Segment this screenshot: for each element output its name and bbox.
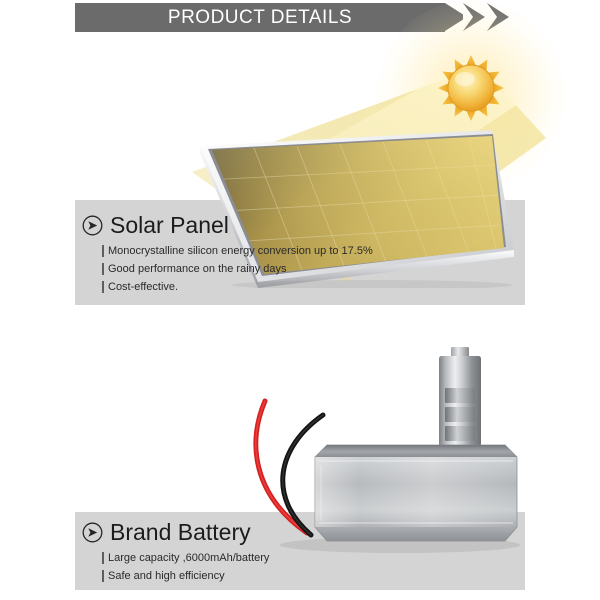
sun-icon: [437, 54, 505, 122]
list-item: Good performance on the rainy days: [102, 260, 373, 278]
list-item: Safe and high efficiency: [102, 567, 269, 585]
list-item: Cost-effective.: [102, 278, 373, 296]
brand-battery-feature-list: Large capacity ,6000mAh/battery Safe and…: [82, 549, 269, 585]
solar-panel-info-block: Solar Panel Monocrystalline silicon ener…: [82, 212, 373, 296]
brand-battery-heading: Brand Battery: [110, 519, 251, 546]
page-title: PRODUCT DETAILS: [75, 3, 445, 32]
circle-play-arrow-icon: [82, 215, 103, 236]
solar-panel-heading: Solar Panel: [110, 212, 229, 239]
list-item: Large capacity ,6000mAh/battery: [102, 549, 269, 567]
circle-play-arrow-icon: [82, 522, 103, 543]
solar-panel-feature-list: Monocrystalline silicon energy conversio…: [82, 242, 373, 296]
list-item: Monocrystalline silicon energy conversio…: [102, 242, 373, 260]
brand-battery-heading-row: Brand Battery: [82, 519, 269, 546]
solar-panel-heading-row: Solar Panel: [82, 212, 373, 239]
brand-battery-info-block: Brand Battery Large capacity ,6000mAh/ba…: [82, 519, 269, 585]
